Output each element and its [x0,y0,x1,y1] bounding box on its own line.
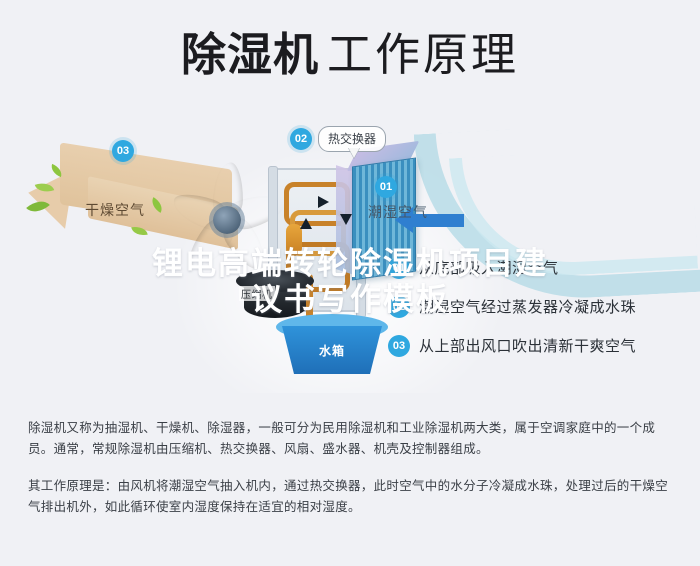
diagram-badge-02: 02 [290,128,312,150]
list-item: 01 从底部吸入潮湿空气 [388,253,688,282]
infographic-page: 除湿机工作原理 [0,0,700,566]
flow-arrow-icon [340,214,352,225]
list-item: 03 从上部出风口吹出清新干爽空气 [388,331,688,360]
step-text: 潮湿空气经过蒸发器冷凝成水珠 [419,296,636,317]
step-number: 01 [388,257,410,279]
heat-exchanger-callout-tail [348,147,360,158]
flow-arrow-icon [300,218,312,229]
water-tank-label: 水箱 [276,342,388,359]
flow-arrow-icon [318,196,329,208]
diagram-badge-03: 03 [112,140,134,162]
page-title: 除湿机工作原理 [0,26,700,84]
step-number: 02 [388,296,410,318]
body-copy: 除湿机又称为抽湿机、干燥机、除湿器，一般可分为民用除湿机和工业除湿机两大类，属于… [28,418,676,518]
water-tank: 水箱 [276,314,388,376]
page-title-secondary: 工作原理 [327,29,519,80]
compressor-label: 压缩机 [239,286,275,301]
list-item: 02 潮湿空气经过蒸发器冷凝成水珠 [388,292,688,321]
dry-air-label: 干燥空气 [85,200,145,220]
fan-hub [213,206,241,234]
body-paragraph-1: 除湿机又称为抽湿机、干燥机、除湿器，一般可分为民用除湿机和工业除湿机两大类，属于… [28,418,676,460]
body-paragraph-2: 其工作原理是：由风机将潮湿空气抽入机内，通过热交换器，此时空气中的水分子冷凝成水… [28,476,676,518]
page-title-primary: 除湿机 [181,29,319,80]
step-text: 从上部出风口吹出清新干爽空气 [419,335,636,356]
step-number: 03 [388,335,410,357]
step-text: 从底部吸入潮湿空气 [419,257,559,278]
diagram-badge-01: 01 [375,176,397,198]
steps-list: 01 从底部吸入潮湿空气 02 潮湿空气经过蒸发器冷凝成水珠 03 从上部出风口… [388,253,688,370]
humid-air-label: 潮湿空气 [368,202,428,222]
